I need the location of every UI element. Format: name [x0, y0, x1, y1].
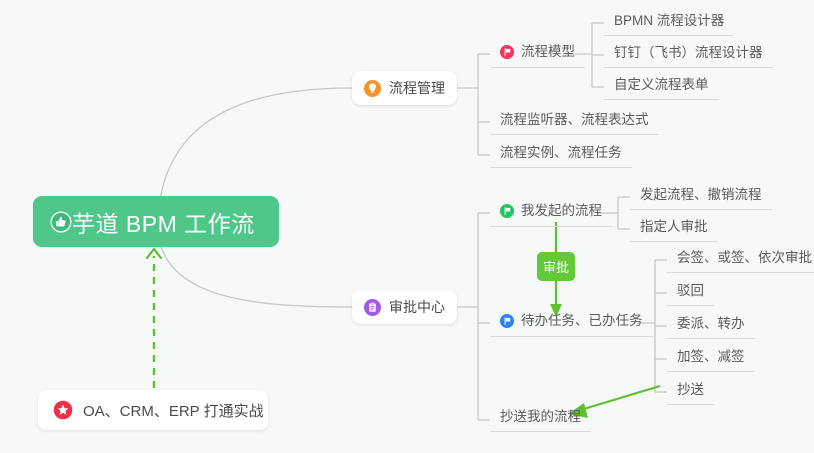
- node-approval-center-label: 审批中心: [389, 297, 445, 317]
- node-add-remove-sign[interactable]: 加签、减签: [667, 347, 755, 372]
- lightbulb-icon: [364, 80, 381, 97]
- tag-approve[interactable]: 审批: [537, 252, 575, 281]
- flag-icon-green: [500, 204, 514, 218]
- node-dingtalk-designer-label: 钉钉（飞书）流程设计器: [614, 43, 763, 63]
- node-flow-management-label: 流程管理: [389, 78, 445, 98]
- node-add-remove-sign-label: 加签、减签: [677, 347, 745, 367]
- node-start-cancel[interactable]: 发起流程、撤销流程: [630, 185, 772, 210]
- link-root-to-flow: [160, 88, 352, 200]
- node-todo-done[interactable]: 待办任务、已办任务: [490, 310, 653, 337]
- node-delegate-transfer-label: 委派、转办: [677, 314, 745, 334]
- root-node[interactable]: 芋道 BPM 工作流: [33, 196, 279, 247]
- node-flow-model-label: 流程模型: [521, 42, 575, 62]
- node-approval-center[interactable]: 审批中心: [352, 290, 457, 324]
- node-custom-form[interactable]: 自定义流程表单: [604, 75, 719, 100]
- node-start-cancel-label: 发起流程、撤销流程: [640, 185, 762, 205]
- flag-icon-blue: [500, 314, 514, 328]
- card-oa-crm-erp[interactable]: OA、CRM、ERP 打通实战: [38, 390, 268, 430]
- star-icon: [52, 399, 74, 421]
- node-my-started-label: 我发起的流程: [521, 201, 602, 221]
- node-custom-form-label: 自定义流程表单: [614, 75, 709, 95]
- node-flow-management[interactable]: 流程管理: [352, 71, 457, 105]
- mindmap-canvas: 芋道 BPM 工作流 流程管理 审批中心: [0, 0, 814, 453]
- node-multi-approval[interactable]: 会签、或签、依次审批: [667, 248, 814, 273]
- node-cc-to-me-label: 抄送我的流程: [500, 407, 581, 427]
- node-reject-label: 驳回: [677, 281, 704, 301]
- node-dingtalk-designer[interactable]: 钉钉（飞书）流程设计器: [604, 43, 773, 68]
- node-bpmn-designer[interactable]: BPMN 流程设计器: [604, 11, 734, 36]
- clipboard-icon: [364, 299, 381, 316]
- node-reject[interactable]: 驳回: [667, 281, 714, 306]
- node-todo-done-label: 待办任务、已办任务: [521, 311, 643, 331]
- node-flow-listener[interactable]: 流程监听器、流程表达式: [490, 110, 659, 135]
- flag-icon-red: [500, 45, 514, 59]
- card-oa-crm-erp-label: OA、CRM、ERP 打通实战: [83, 400, 264, 421]
- root-label: 芋道 BPM 工作流: [72, 205, 255, 239]
- dashed-green-arrow-up: [147, 249, 161, 388]
- node-assigned-approval[interactable]: 指定人审批: [630, 217, 718, 242]
- node-assigned-approval-label: 指定人审批: [640, 217, 708, 237]
- node-bpmn-designer-label: BPMN 流程设计器: [614, 11, 724, 31]
- node-flow-instance-label: 流程实例、流程任务: [500, 143, 622, 163]
- link-root-to-approval: [160, 243, 352, 307]
- node-flow-instance[interactable]: 流程实例、流程任务: [490, 143, 632, 168]
- thumbs-up-icon: [50, 211, 72, 233]
- tag-approve-label: 审批: [543, 257, 569, 276]
- node-cc[interactable]: 抄送: [667, 380, 714, 405]
- node-flow-model[interactable]: 流程模型: [490, 41, 585, 68]
- node-delegate-transfer[interactable]: 委派、转办: [667, 314, 755, 339]
- node-flow-listener-label: 流程监听器、流程表达式: [500, 110, 649, 130]
- node-cc-label: 抄送: [677, 380, 704, 400]
- node-my-started[interactable]: 我发起的流程: [490, 200, 612, 227]
- node-cc-to-me[interactable]: 抄送我的流程: [490, 407, 591, 432]
- node-multi-approval-label: 会签、或签、依次审批: [677, 248, 812, 268]
